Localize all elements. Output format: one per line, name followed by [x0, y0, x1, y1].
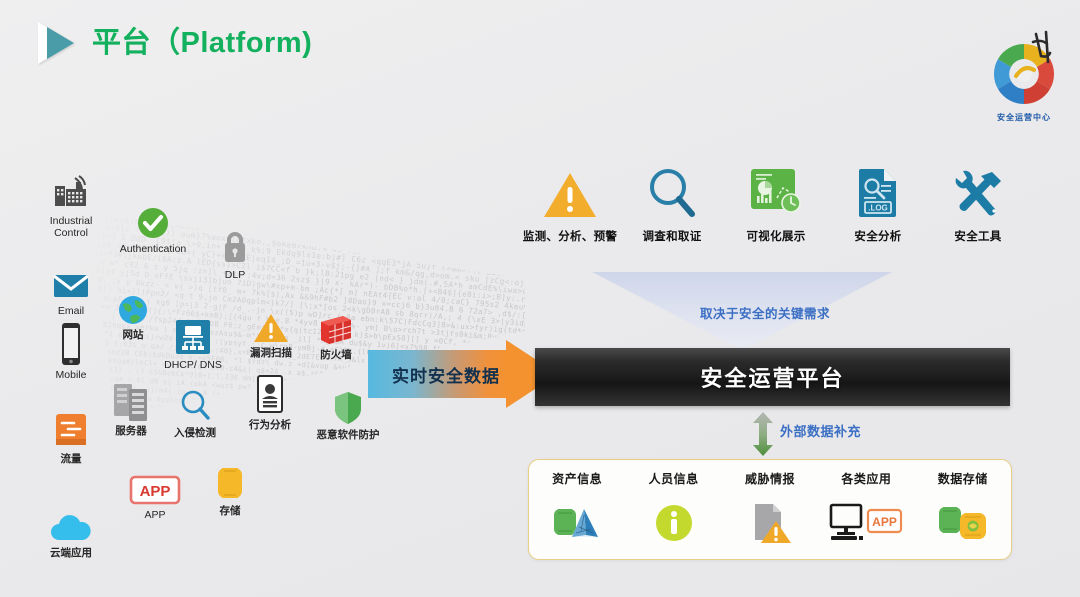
capability-label: 安全分析 [826, 228, 930, 244]
info-circle-icon [628, 497, 720, 549]
external-data-label: 资产信息 [531, 470, 623, 487]
external-data-label: 数据存储 [917, 470, 1009, 487]
play-triangle-icon [38, 22, 78, 64]
source-label: 入侵检测 [152, 427, 238, 439]
logo-mark-icon [986, 22, 1062, 114]
arrow-label: 实时安全数据 [376, 350, 516, 398]
source-label: 流量 [28, 453, 114, 465]
source-node-authentication[interactable]: Authentication [110, 196, 196, 255]
source-node-app[interactable]: APP APP [112, 462, 198, 521]
capability-visualization[interactable]: 可视化展示 [724, 162, 828, 244]
storage-drum-icon [187, 458, 273, 502]
log-document-icon: .LOG [826, 162, 930, 220]
svg-text:APP: APP [140, 483, 171, 500]
capability-label: 调查和取证 [620, 228, 724, 244]
dashboard-chart-icon [724, 162, 828, 220]
source-label: DHCP/ DNS [150, 359, 236, 371]
svg-text:APP: APP [873, 515, 898, 529]
alert-triangle-icon [518, 162, 622, 220]
database-storage-icon [917, 497, 1009, 549]
document-warning-icon [724, 497, 816, 549]
external-data-item-applications[interactable]: 各类应用 APP [820, 470, 912, 549]
network-node-icon [150, 312, 236, 356]
slide-header: 平台（Platform) [38, 22, 312, 64]
desktop-app-icon: APP [820, 497, 912, 549]
source-node-dlp[interactable]: DLP [192, 222, 278, 281]
capability-label: 可视化展示 [724, 228, 828, 244]
source-node-storage[interactable]: 存储 [187, 458, 273, 517]
external-data-item-asset[interactable]: 资产信息 [531, 470, 623, 549]
magnifier-icon [620, 162, 724, 220]
logo-caption: 安全运营中心 [986, 112, 1062, 123]
external-data-item-personnel[interactable]: 人员信息 [628, 470, 720, 549]
source-label: 恶意软件防护 [300, 429, 396, 441]
requirement-label: 取决于安全的关键需求 [700, 303, 830, 322]
magnifier-icon [152, 380, 238, 424]
firewall-brick-icon [293, 302, 379, 346]
capability-monitor-analyze-alert[interactable]: 监测、分析、预警 [518, 162, 622, 244]
external-data-item-data-storage[interactable]: 数据存储 [917, 470, 1009, 549]
source-node-dhcp-dns[interactable]: DHCP/ DNS [150, 312, 236, 371]
capability-label: 监测、分析、预警 [518, 228, 622, 244]
source-label: Authentication [110, 243, 196, 255]
external-data-double-arrow-icon [752, 412, 774, 456]
beidou-swirl-logo: 安全运营中心 [986, 22, 1062, 134]
source-label: Industrial Control [28, 215, 114, 239]
source-node-industrial-control[interactable]: Industrial Control [28, 168, 114, 239]
external-data-label: 各类应用 [820, 470, 912, 487]
security-operations-platform-bar[interactable]: 安全运营平台 [535, 348, 1010, 406]
source-label: APP [112, 509, 198, 521]
external-data-label: 威胁情报 [724, 470, 816, 487]
source-label: DLP [192, 269, 278, 281]
source-label: 云端应用 [28, 547, 114, 559]
page-title: 平台（Platform) [92, 29, 312, 58]
app-box-icon: APP [112, 462, 198, 506]
capability-security-analysis[interactable]: .LOG 安全分析 [826, 162, 930, 244]
source-label: 存储 [187, 505, 273, 517]
padlock-icon [192, 222, 278, 266]
external-data-label: 外部数据补充 [780, 421, 861, 440]
external-data-item-threat-intel[interactable]: 威胁情报 [724, 470, 816, 549]
wrench-hammer-icon [926, 162, 1030, 220]
asset-database-pyramid-icon [531, 497, 623, 549]
external-data-label: 人员信息 [628, 470, 720, 487]
factory-icon [28, 168, 114, 212]
slide-canvas: 平台（Platform) 安全运营中心 2j3)p< [0, 0, 1080, 597]
source-node-firewall[interactable]: 防火墙 [293, 302, 379, 361]
realtime-data-arrow: 实时安全数据 [368, 340, 558, 408]
source-label: 防火墙 [293, 349, 379, 361]
svg-text:.LOG: .LOG [868, 204, 888, 213]
source-node-intrusion-detection[interactable]: 入侵检测 [152, 380, 238, 439]
green-check-icon [110, 196, 196, 240]
capability-label: 安全工具 [926, 228, 1030, 244]
external-data-panel: 资产信息 人员信息 [528, 459, 1012, 560]
capability-investigation-forensics[interactable]: 调查和取证 [620, 162, 724, 244]
capability-security-tools[interactable]: 安全工具 [926, 162, 1030, 244]
source-node-cloud-app[interactable]: 云端应用 [28, 500, 114, 559]
platform-title: 安全运营平台 [700, 361, 844, 393]
cloud-icon [28, 500, 114, 544]
